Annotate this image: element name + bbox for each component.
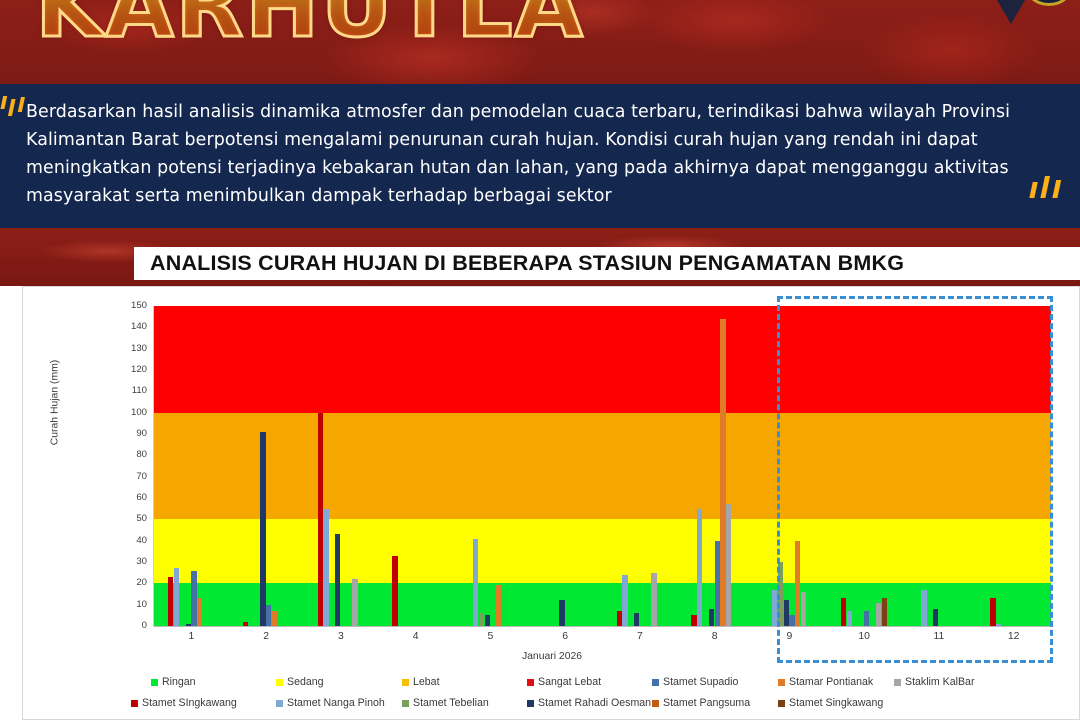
bar bbox=[323, 509, 328, 626]
bmkg-seal-icon bbox=[1026, 0, 1072, 6]
chart-legend: RinganSedangLebatSangat LebatStamet Supa… bbox=[23, 673, 1080, 719]
y-tick-label: 140 bbox=[101, 321, 147, 332]
bar bbox=[933, 609, 938, 626]
y-axis-title: Curah Hujan (mm) bbox=[50, 323, 61, 483]
y-tick-label: 90 bbox=[101, 428, 147, 439]
legend-row: RinganSedangLebatSangat LebatStamet Supa… bbox=[23, 676, 1080, 697]
legend-swatch-icon bbox=[276, 700, 283, 707]
bar bbox=[272, 611, 277, 626]
legend-item[interactable]: Stamet Tebelian bbox=[402, 697, 489, 709]
x-tick-label: 11 bbox=[919, 631, 959, 642]
bar bbox=[841, 598, 846, 626]
bar bbox=[352, 579, 357, 626]
legend-item[interactable]: Stamet Supadio bbox=[652, 676, 738, 688]
x-tick-label: 2 bbox=[246, 631, 286, 642]
bar bbox=[720, 319, 725, 626]
bar bbox=[778, 562, 783, 626]
bar bbox=[801, 592, 806, 626]
bar bbox=[392, 556, 397, 626]
y-tick-label: 50 bbox=[101, 513, 147, 524]
y-tick-label: 10 bbox=[101, 599, 147, 610]
legend-label: Stamet Singkawang bbox=[789, 697, 883, 709]
bar bbox=[847, 611, 852, 626]
bar bbox=[485, 615, 490, 626]
bar bbox=[318, 413, 323, 626]
legend-label: Stamet Pangsuma bbox=[663, 697, 750, 709]
y-tick-label: 130 bbox=[101, 343, 147, 354]
legend-item[interactable]: Stamet Singkawang bbox=[778, 697, 883, 709]
bar bbox=[335, 534, 340, 626]
bar bbox=[882, 598, 887, 626]
bar bbox=[622, 575, 627, 626]
y-tick-label: 20 bbox=[101, 577, 147, 588]
bar bbox=[795, 541, 800, 626]
legend-swatch-icon bbox=[276, 679, 283, 686]
legend-item[interactable]: Sedang bbox=[276, 676, 324, 688]
bar bbox=[197, 598, 202, 626]
bar bbox=[168, 577, 173, 626]
legend-item[interactable]: Stamet Rahadi Oesman bbox=[527, 697, 651, 709]
chart-card: Curah Hujan (mm) 15014013012011010090807… bbox=[22, 286, 1080, 720]
band-lebat bbox=[154, 413, 1051, 520]
x-tick-label: 12 bbox=[994, 631, 1034, 642]
bar bbox=[479, 613, 484, 626]
legend-item[interactable]: Stamet Nanga Pinoh bbox=[276, 697, 385, 709]
bar bbox=[876, 603, 881, 626]
chart-title: ANALISIS CURAH HUJAN DI BEBERAPA STASIUN… bbox=[150, 251, 904, 276]
x-tick-label: 3 bbox=[321, 631, 361, 642]
band-ringan bbox=[154, 583, 1051, 626]
top-banner: KARHUTLA bbox=[0, 0, 1080, 84]
legend-item[interactable]: Stamet SIngkawang bbox=[131, 697, 237, 709]
x-axis-title: Januari 2026 bbox=[23, 651, 1080, 662]
bar bbox=[772, 590, 777, 626]
legend-label: Stamet Rahadi Oesman bbox=[538, 697, 651, 709]
bar bbox=[266, 605, 271, 626]
bar bbox=[709, 609, 714, 626]
y-tick-label: 120 bbox=[101, 364, 147, 375]
legend-item[interactable]: Ringan bbox=[151, 676, 196, 688]
bar bbox=[784, 600, 789, 626]
x-tick-label: 5 bbox=[470, 631, 510, 642]
x-tick-label: 6 bbox=[545, 631, 585, 642]
legend-label: Sangat Lebat bbox=[538, 676, 601, 688]
chart-title-bar: ANALISIS CURAH HUJAN DI BEBERAPA STASIUN… bbox=[134, 247, 1080, 280]
bar bbox=[864, 611, 869, 626]
y-tick-label: 100 bbox=[101, 407, 147, 418]
legend-label: Stamar Pontianak bbox=[789, 676, 873, 688]
legend-swatch-icon bbox=[778, 679, 785, 686]
legend-label: Stamet Tebelian bbox=[413, 697, 489, 709]
legend-swatch-icon bbox=[778, 700, 785, 707]
bmkg-emblem-icon bbox=[984, 0, 1038, 24]
x-tick-label: 9 bbox=[769, 631, 809, 642]
legend-swatch-icon bbox=[652, 679, 659, 686]
bar bbox=[617, 611, 622, 626]
legend-item[interactable]: Stamar Pontianak bbox=[778, 676, 873, 688]
legend-label: Sedang bbox=[287, 676, 324, 688]
legend-swatch-icon bbox=[527, 679, 534, 686]
banner-title: KARHUTLA bbox=[0, 0, 620, 57]
legend-label: Lebat bbox=[413, 676, 440, 688]
bar bbox=[174, 568, 179, 626]
y-tick-label: 60 bbox=[101, 492, 147, 503]
legend-swatch-icon bbox=[894, 679, 901, 686]
legend-swatch-icon bbox=[402, 679, 409, 686]
legend-swatch-icon bbox=[652, 700, 659, 707]
x-tick-label: 10 bbox=[844, 631, 884, 642]
x-tick-label: 1 bbox=[171, 631, 211, 642]
bar bbox=[990, 598, 995, 626]
plot-area bbox=[154, 306, 1051, 626]
legend-swatch-icon bbox=[527, 700, 534, 707]
legend-label: Staklim KalBar bbox=[905, 676, 974, 688]
y-tick-label: 40 bbox=[101, 535, 147, 546]
x-tick-label: 8 bbox=[695, 631, 735, 642]
bar bbox=[191, 571, 196, 626]
bar bbox=[921, 590, 926, 626]
y-tick-label: 80 bbox=[101, 449, 147, 460]
legend-item[interactable]: Staklim KalBar bbox=[894, 676, 974, 688]
legend-item[interactable]: Stamet Pangsuma bbox=[652, 697, 750, 709]
legend-label: Stamet Nanga Pinoh bbox=[287, 697, 385, 709]
y-tick-label: 70 bbox=[101, 471, 147, 482]
bar bbox=[473, 539, 478, 626]
y-tick-label: 30 bbox=[101, 556, 147, 567]
y-tick-label: 0 bbox=[101, 620, 147, 631]
legend-label: Stamet SIngkawang bbox=[142, 697, 237, 709]
bar bbox=[789, 615, 794, 626]
bar bbox=[691, 615, 696, 626]
bar bbox=[651, 573, 656, 626]
legend-swatch-icon bbox=[151, 679, 158, 686]
bar bbox=[697, 509, 702, 626]
legend-label: Stamet Supadio bbox=[663, 676, 738, 688]
x-tick-label: 4 bbox=[396, 631, 436, 642]
bar bbox=[260, 432, 265, 626]
bar bbox=[715, 541, 720, 626]
bar bbox=[496, 585, 501, 626]
band-sedang bbox=[154, 519, 1051, 583]
legend-swatch-icon bbox=[131, 700, 138, 707]
narrative-text: Berdasarkan hasil analisis dinamika atmo… bbox=[26, 98, 1052, 210]
x-tick-label: 7 bbox=[620, 631, 660, 642]
narrative-panel: Berdasarkan hasil analisis dinamika atmo… bbox=[0, 84, 1080, 228]
legend-swatch-icon bbox=[402, 700, 409, 707]
y-tick-label: 110 bbox=[101, 385, 147, 396]
legend-item[interactable]: Lebat bbox=[402, 676, 440, 688]
band-sangat-lebat bbox=[154, 306, 1051, 413]
bar bbox=[634, 613, 639, 626]
y-axis-ticks: 1501401301201101009080706050403020100 bbox=[97, 306, 147, 627]
y-tick-label: 150 bbox=[101, 300, 147, 311]
legend-row: Stamet SIngkawangStamet Nanga PinohStame… bbox=[23, 697, 1080, 718]
bar bbox=[726, 504, 731, 626]
bar bbox=[559, 600, 564, 626]
legend-label: Ringan bbox=[162, 676, 196, 688]
legend-item[interactable]: Sangat Lebat bbox=[527, 676, 601, 688]
x-axis-line bbox=[154, 626, 1052, 627]
